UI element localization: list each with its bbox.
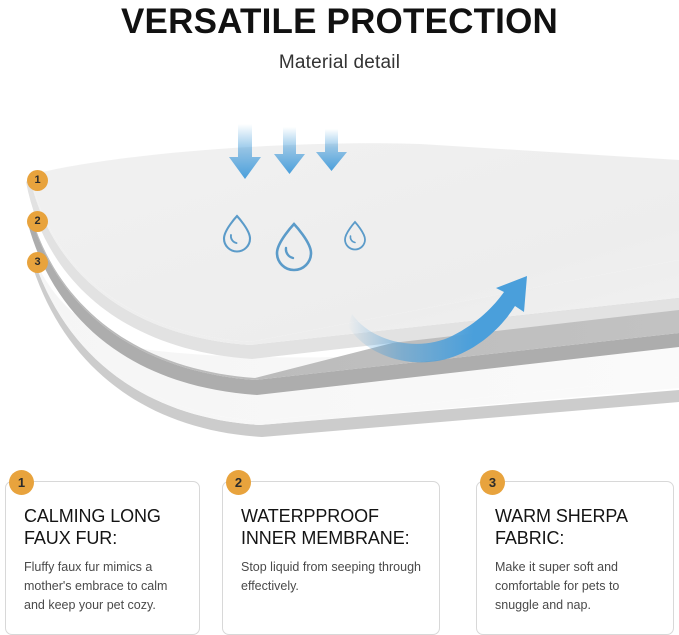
- card-title: WATERPPROOF INNER MEMBRANE:: [241, 506, 425, 550]
- card-description: Stop liquid from seeping through effecti…: [241, 550, 425, 596]
- feature-cards: 1 CALMING LONG FAUX FUR: Fluffy faux fur…: [0, 470, 679, 635]
- card-title: WARM SHERPA FABRIC:: [495, 506, 659, 550]
- card-badge-1: 1: [9, 470, 34, 495]
- feature-card-calming-long-faux-fur: 1 CALMING LONG FAUX FUR: Fluffy faux fur…: [5, 481, 200, 635]
- card-body: CALMING LONG FAUX FUR: Fluffy faux fur m…: [6, 482, 199, 615]
- card-badge-2: 2: [226, 470, 251, 495]
- feature-card-waterproof-inner-membrane: 2 WATERPPROOF INNER MEMBRANE: Stop liqui…: [222, 481, 440, 635]
- feature-card-warm-sherpa-fabric: 3 WARM SHERPA FABRIC: Make it super soft…: [476, 481, 674, 635]
- card-description: Make it super soft and comfortable for p…: [495, 550, 659, 615]
- card-body: WATERPPROOF INNER MEMBRANE: Stop liquid …: [223, 482, 439, 596]
- layers-illustration: [0, 100, 679, 450]
- layer-badge-2: 2: [27, 211, 48, 232]
- card-badge-3: 3: [480, 470, 505, 495]
- header: VERSATILE PROTECTION Material detail: [0, 0, 679, 74]
- layer-badge-1: 1: [27, 170, 48, 191]
- card-body: WARM SHERPA FABRIC: Make it super soft a…: [477, 482, 673, 615]
- material-layers-diagram: 1 2 3: [0, 100, 679, 450]
- layer-badge-3: 3: [27, 252, 48, 273]
- card-title: CALMING LONG FAUX FUR:: [24, 506, 185, 550]
- card-description: Fluffy faux fur mimics a mother's embrac…: [24, 550, 185, 615]
- page-subtitle: Material detail: [0, 41, 679, 74]
- page-title: VERSATILE PROTECTION: [0, 0, 679, 41]
